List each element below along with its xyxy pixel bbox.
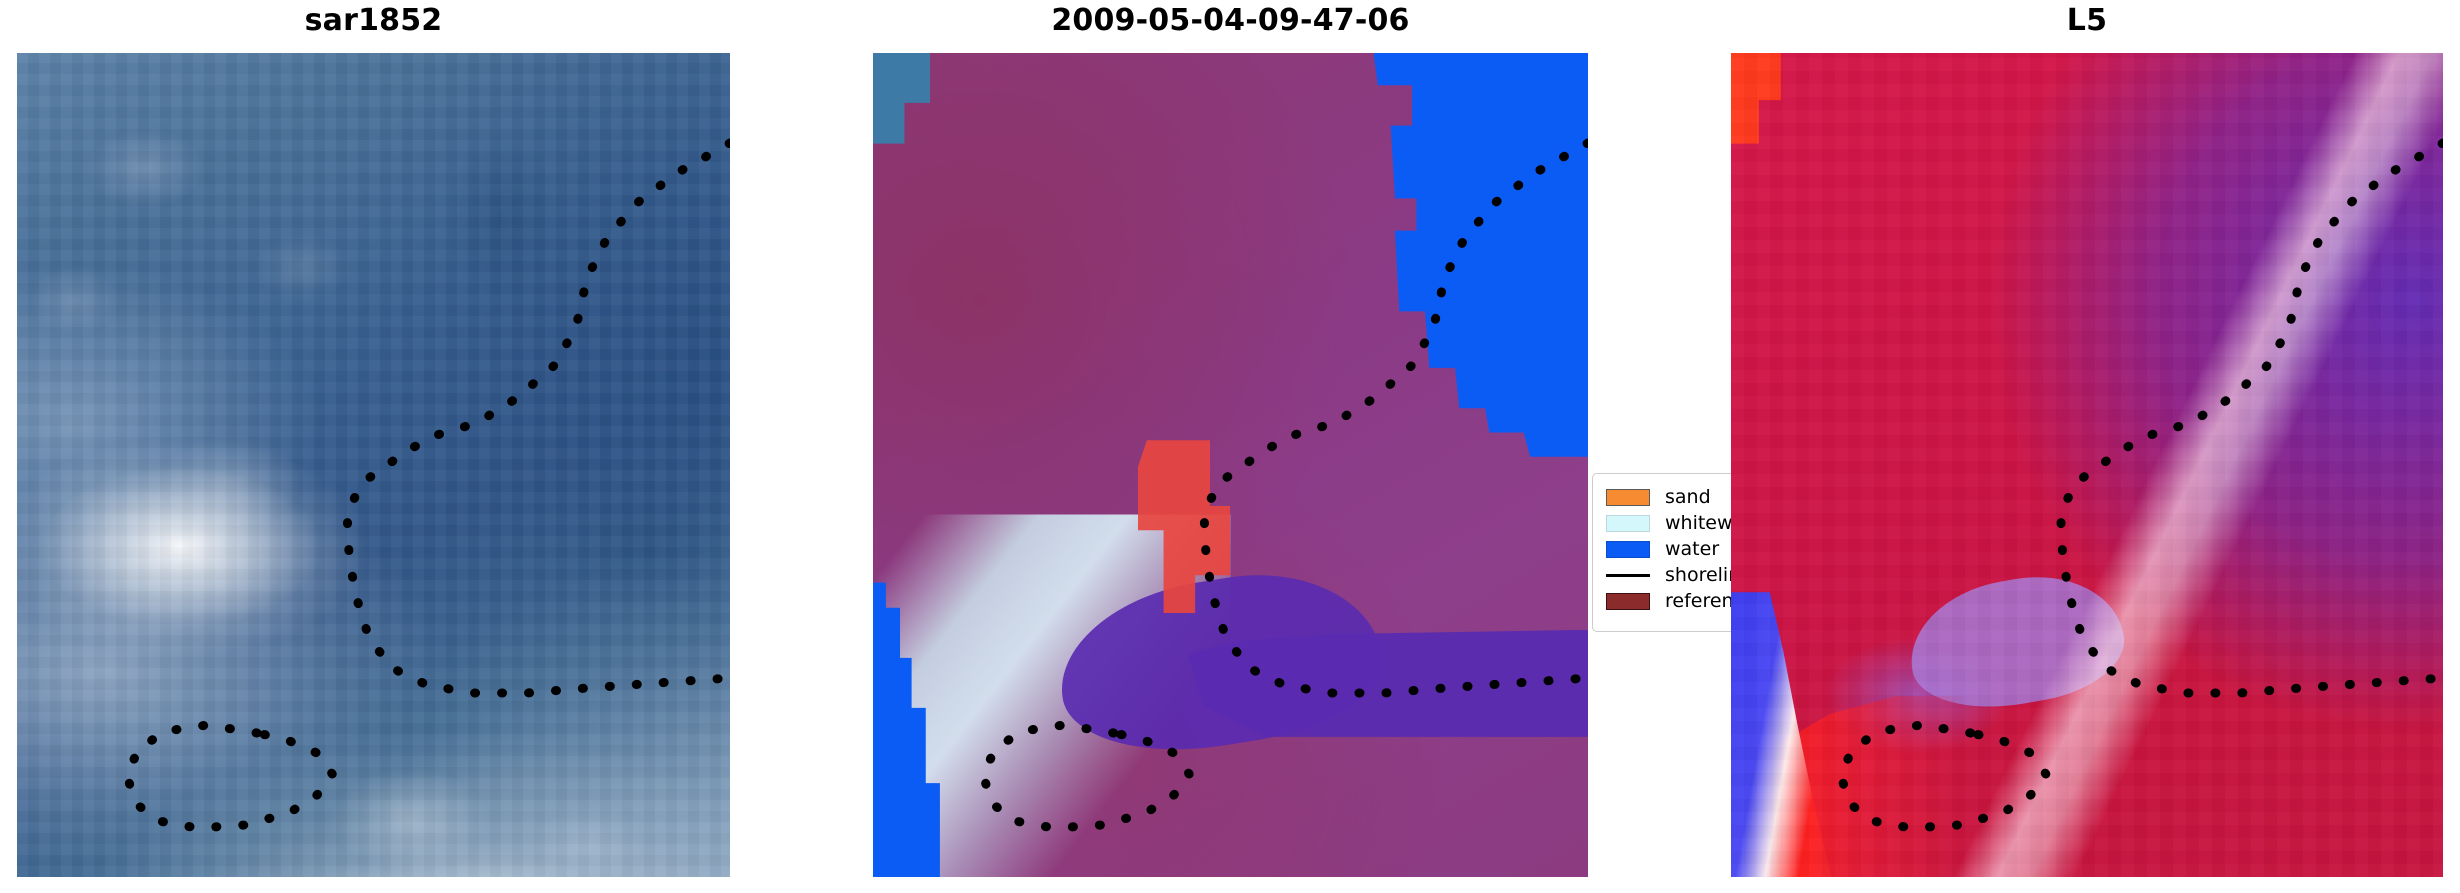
- sand-swatch-icon: [1606, 489, 1650, 506]
- water-swatch-icon: [1606, 541, 1650, 558]
- image-panel-classification[interactable]: [873, 53, 1588, 877]
- panel-title-l5: L5: [1731, 2, 2443, 40]
- image-panel-sar1852[interactable]: [17, 53, 730, 877]
- panel-title-timestamp: 2009-05-04-09-47-06: [873, 2, 1588, 40]
- figure-canvas: sar1852 2009-05-04-09-47-06 L5 sand: [0, 0, 2460, 893]
- legend-label-water: water: [1665, 538, 1719, 560]
- shoreline-line-icon: [1606, 574, 1650, 577]
- legend-label-sand: sand: [1665, 486, 1711, 508]
- panel-title-sar1852: sar1852: [17, 2, 730, 40]
- reference-swatch-icon: [1606, 593, 1650, 610]
- whitewater-swatch-icon: [1606, 515, 1650, 532]
- shoreline-overlay-panel2: [873, 53, 1588, 877]
- image-panel-l5[interactable]: [1731, 53, 2443, 877]
- shoreline-overlay-panel3: [1731, 53, 2443, 877]
- shoreline-overlay-panel1: [17, 53, 730, 877]
